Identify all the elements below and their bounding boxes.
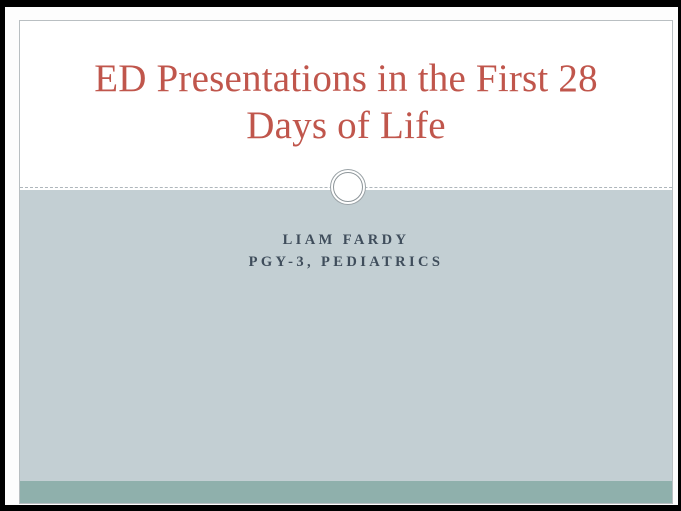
slide-footer-band (20, 481, 672, 504)
slide-body-panel: Liam Fardy PGY-3, Pediatrics (20, 190, 672, 481)
slide-mat: ED Presentations in the First 28 Days of… (5, 7, 678, 505)
double-ring-circle-icon (333, 172, 363, 202)
title-line-1: ED Presentations in the First 28 (94, 57, 598, 100)
presenter-role: PGY-3, Pediatrics (20, 251, 672, 273)
page-title: ED Presentations in the First 28 Days of… (46, 55, 646, 153)
presenter-name: Liam Fardy (20, 229, 672, 251)
title-area: ED Presentations in the First 28 Days of… (20, 21, 672, 187)
subtitle-block: Liam Fardy PGY-3, Pediatrics (20, 229, 672, 273)
title-slide[interactable]: ED Presentations in the First 28 Days of… (19, 20, 673, 504)
title-line-2: Days of Life (246, 104, 446, 147)
presentation-viewer: ED Presentations in the First 28 Days of… (0, 0, 681, 511)
